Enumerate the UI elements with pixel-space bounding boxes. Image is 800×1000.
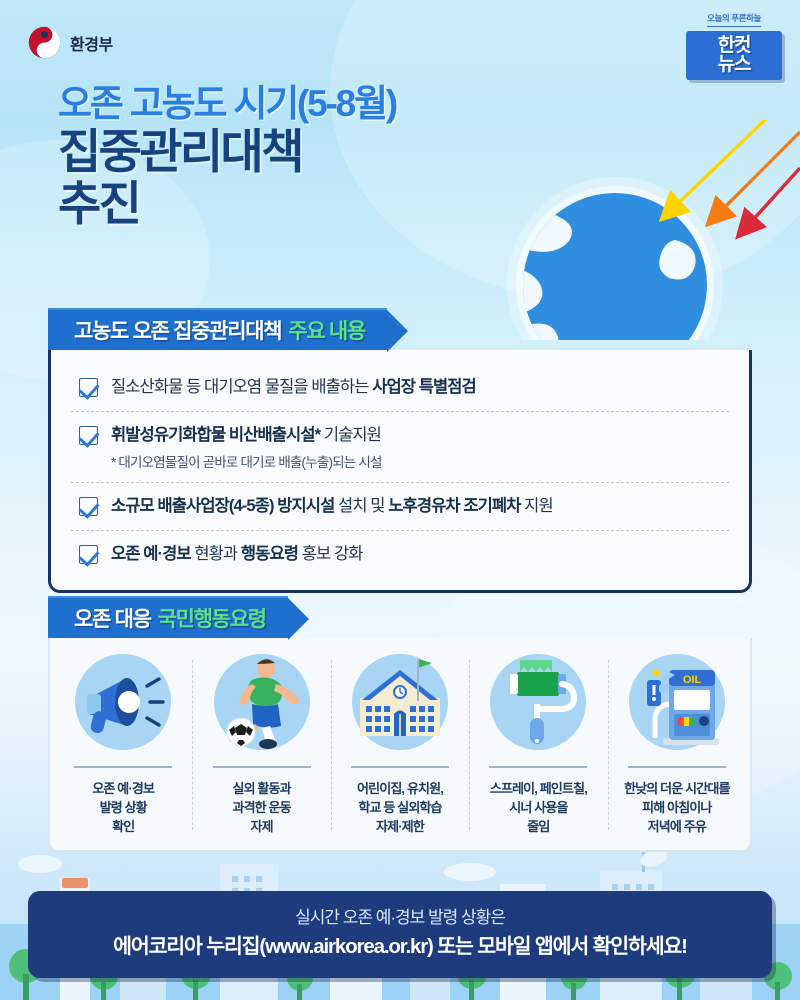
title-line-2: 집중관리대책 xyxy=(58,126,396,178)
paint-roller-icon xyxy=(490,654,586,750)
actions-banner-title: 오존 대응 xyxy=(74,603,151,633)
measures-panel: 질소산화물 등 대기오염 물질을 배출하는 사업장 특별점검 휘발성유기화합물 … xyxy=(48,350,752,593)
checkbox-checked-icon xyxy=(79,545,98,564)
card-divider xyxy=(74,766,172,768)
action-caption: 스프레이, 페인트칠,시너 사용을줄임 xyxy=(473,779,603,836)
action-caption: 실외 활동과과격한 운동자제 xyxy=(196,779,326,836)
actions-section: 오존 대응 국민행동요령 xyxy=(48,596,752,852)
title-line-3: 추진 xyxy=(58,178,396,230)
action-card-alert-check: 오존 예·경보발령 상황확인 xyxy=(54,654,192,836)
gas-pump-icon: OIL xyxy=(629,654,725,750)
measure-text: 오존 예·경보 현황과 행동요령 홍보 강화 xyxy=(111,542,363,567)
action-card-outdoor-exercise: 실외 활동과과격한 운동자제 xyxy=(192,654,330,836)
card-divider xyxy=(213,766,311,768)
measure-text: 질소산화물 등 대기오염 물질을 배출하는 사업장 특별점검 xyxy=(111,375,476,400)
measure-item: 소규모 배출사업장(4-5종) 방지시설 설치 및 노후경유차 조기폐차 지원 xyxy=(71,482,729,530)
soccer-player-icon xyxy=(214,654,310,750)
news-badge-kicker: 오늘의 푸른하늘 xyxy=(707,12,761,27)
megaphone-icon xyxy=(75,654,171,750)
satellite-dish-icon xyxy=(638,850,670,872)
measure-item: 휘발성유기화합물 비산배출시설* 기술지원 * 대기오염물질이 곧바로 대기로 … xyxy=(71,411,729,482)
action-caption: 한낮의 더운 시간대를피해 아침이나저녁에 주유 xyxy=(612,779,742,836)
ministry-branding: 환경부 xyxy=(28,26,113,59)
title-line-1: 오존 고농도 시기(5-8월) xyxy=(58,82,396,126)
measure-item: 질소산화물 등 대기오염 물질을 배출하는 사업장 특별점검 xyxy=(71,364,729,411)
measure-footnote: * 대기오염물질이 곧바로 대기로 배출(누출)되는 시설 xyxy=(111,451,382,471)
page-title: 오존 고농도 시기(5-8월) 집중관리대책 추진 xyxy=(58,82,396,230)
action-caption: 어린이집, 유치원,학교 등 실외학습자제·제한 xyxy=(335,779,465,836)
school-building-icon xyxy=(352,654,448,750)
checkbox-checked-icon xyxy=(79,378,98,397)
news-badge-line1: 한컷 xyxy=(690,36,778,55)
measure-text: 휘발성유기화합물 비산배출시설* 기술지원 xyxy=(111,423,382,448)
measures-banner-highlight: 주요 내용 xyxy=(288,315,365,345)
bottom-line-1: 실시간 오존 예·경보 발령 상황은 xyxy=(38,905,762,931)
measure-item: 오존 예·경보 현황과 행동요령 홍보 강화 xyxy=(71,530,729,578)
news-badge-line2: 뉴스 xyxy=(690,55,778,74)
gas-pump-label: OIL xyxy=(683,674,702,686)
infographic-page: 환경부 오늘의 푸른하늘 한컷 뉴스 오존 고농도 시기(5-8월) 집중관리대… xyxy=(0,0,800,1000)
actions-card-row: 오존 예·경보발령 상황확인 xyxy=(48,638,752,852)
uv-ray-red xyxy=(742,168,800,232)
checkbox-checked-icon xyxy=(79,426,98,445)
measures-banner-title: 고농도 오존 집중관리대책 xyxy=(74,315,281,345)
uv-ray-orange xyxy=(712,132,800,220)
card-divider xyxy=(489,766,587,768)
checkbox-checked-icon xyxy=(79,497,98,516)
actions-banner-highlight: 국민행동요령 xyxy=(158,603,266,633)
measures-banner: 고농도 오존 집중관리대책 주요 내용 xyxy=(48,308,752,350)
card-divider xyxy=(628,766,726,768)
bottom-cta-bar: 실시간 오존 예·경보 발령 상황은 에어코리아 누리집(www.airkore… xyxy=(28,891,772,978)
action-card-school-outdoor: 어린이집, 유치원,학교 등 실외학습자제·제한 xyxy=(331,654,469,836)
news-badge: 오늘의 푸른하늘 한컷 뉴스 xyxy=(686,8,782,80)
ministry-name: 환경부 xyxy=(70,31,113,55)
bottom-line-2: 에어코리아 누리집(www.airkorea.or.kr) 또는 모바일 앱에서… xyxy=(38,932,762,962)
actions-banner: 오존 대응 국민행동요령 xyxy=(48,596,752,638)
page-header: 환경부 오늘의 푸른하늘 한컷 뉴스 xyxy=(0,0,800,92)
action-card-refuel-timing: OIL xyxy=(608,654,746,836)
taeguk-logo xyxy=(28,26,61,59)
measures-section: 고농도 오존 집중관리대책 주요 내용 질소산화물 등 대기오염 물질을 배출하… xyxy=(48,308,752,593)
card-divider xyxy=(351,766,449,768)
uv-ray-yellow xyxy=(666,120,770,215)
news-badge-box: 한컷 뉴스 xyxy=(686,31,782,80)
action-card-reduce-solvents: 스프레이, 페인트칠,시너 사용을줄임 xyxy=(469,654,607,836)
measure-text: 소규모 배출사업장(4-5종) 방지시설 설치 및 노후경유차 조기폐차 지원 xyxy=(111,494,553,519)
action-caption: 오존 예·경보발령 상황확인 xyxy=(58,779,188,836)
globe-illustration xyxy=(470,120,800,340)
